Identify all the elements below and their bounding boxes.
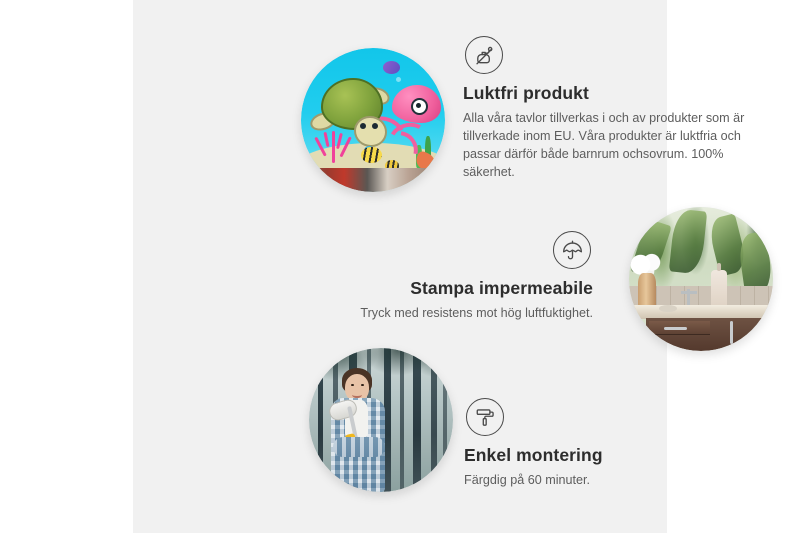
- promo-graphic: Luktfri produkt Alla våra tavlor tillver…: [0, 0, 800, 533]
- feature-description: Färgdig på 60 minuter.: [464, 472, 724, 490]
- room-foreground-strip: [301, 168, 445, 192]
- umbrella-icon: [553, 231, 591, 269]
- feature-description: Alla våra tavlor tillverkas i och av pro…: [463, 110, 759, 182]
- feature-description: Tryck med resistens mot hög luftfuktighe…: [333, 305, 593, 323]
- feature-waterproof: Stampa impermeabile Tryck med resistens …: [333, 231, 593, 323]
- woman-with-paint-roller-forest-wallpaper-photo: [309, 348, 453, 492]
- woman-eye: [361, 384, 364, 386]
- feature-title: Stampa impermeabile: [333, 278, 593, 299]
- bathroom-tropical-leaf-wallpaper-photo: [629, 207, 773, 351]
- coral-icon: [313, 126, 356, 163]
- underwater-cartoon-wallpaper-photo: [301, 48, 445, 192]
- turtle-eye: [372, 123, 378, 129]
- turtle-eye: [360, 123, 366, 129]
- feature-assembly: Enkel montering Färgdig på 60 minuter.: [464, 398, 724, 490]
- feature-title: Luktfri produkt: [463, 83, 759, 104]
- forest-canopy: [309, 348, 453, 403]
- octopus-eye: [411, 98, 428, 115]
- yellow-fish-icon: [361, 147, 381, 163]
- woman-eye: [351, 384, 354, 386]
- feature-odourless: Luktfri produkt Alla våra tavlor tillver…: [463, 36, 759, 182]
- bubble-icon: [396, 77, 401, 82]
- no-odour-icon: [465, 36, 503, 74]
- soap-dish: [659, 305, 676, 312]
- content-panel: Luktfri produkt Alla våra tavlor tillver…: [133, 0, 667, 533]
- cabinet-handle: [730, 321, 733, 344]
- woman-smile: [352, 391, 362, 397]
- woman-crossed-arms: [333, 437, 385, 457]
- feature-title: Enkel montering: [464, 445, 724, 466]
- turtle-head: [354, 116, 387, 147]
- drawer-handle: [664, 327, 687, 330]
- paint-roller-icon: [466, 398, 504, 436]
